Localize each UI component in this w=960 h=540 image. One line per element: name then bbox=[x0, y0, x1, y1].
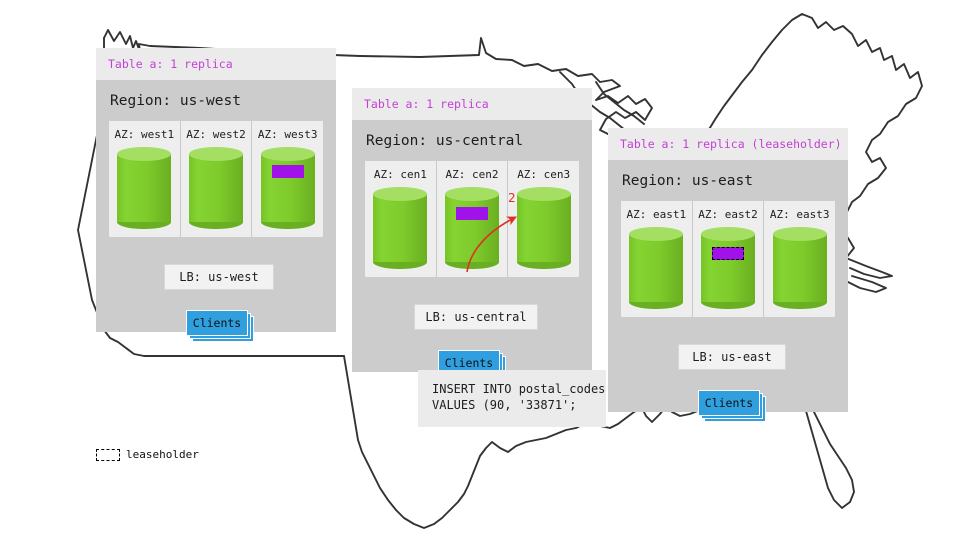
cylinder-top bbox=[517, 187, 571, 201]
az-cell-west1[interactable]: AZ: west1 bbox=[109, 121, 181, 237]
replica-box-east2-leaseholder[interactable] bbox=[712, 247, 744, 260]
az-cell-east3[interactable]: AZ: east3 bbox=[764, 201, 835, 317]
cylinder-body bbox=[629, 234, 683, 302]
cylinder-top bbox=[373, 187, 427, 201]
load-balancer-us-central[interactable]: LB: us-central bbox=[414, 304, 538, 330]
cylinder-shape bbox=[373, 187, 427, 269]
region-panel-us-central: Table a: 1 replica Region: us-central AZ… bbox=[352, 88, 592, 372]
clients-stack[interactable]: Clients bbox=[186, 310, 248, 336]
db-node-east3[interactable] bbox=[773, 227, 827, 309]
clients-group-us-east[interactable]: Clients bbox=[698, 390, 760, 416]
replica-box-cen2[interactable] bbox=[456, 207, 488, 220]
az-label-west3: AZ: west3 bbox=[252, 128, 323, 141]
region-title-us-central: Region: us-central bbox=[352, 120, 592, 161]
db-node-east2[interactable] bbox=[701, 227, 755, 309]
sql-statement-box: INSERT INTO postal_codes VALUES (90, '33… bbox=[418, 370, 606, 427]
az-row-us-east: AZ: east1 AZ: east2 bbox=[621, 201, 835, 317]
cylinder-top bbox=[261, 147, 315, 161]
legend: leaseholder bbox=[96, 448, 199, 461]
db-node-cen2[interactable] bbox=[445, 187, 499, 269]
az-label-cen2: AZ: cen2 bbox=[437, 168, 508, 181]
cylinder-top bbox=[773, 227, 827, 241]
arrow-label-2: 2 bbox=[508, 191, 516, 205]
load-balancer-us-west[interactable]: LB: us-west bbox=[164, 264, 274, 290]
region-panel-us-east: Table a: 1 replica (leaseholder) Region:… bbox=[608, 128, 848, 412]
az-label-east1: AZ: east1 bbox=[621, 208, 692, 221]
replica-box-west3[interactable] bbox=[272, 165, 304, 178]
cylinder-shape bbox=[517, 187, 571, 269]
db-node-west2[interactable] bbox=[189, 147, 243, 229]
lb-label-us-west: LB: us-west bbox=[179, 270, 258, 284]
clients-stack[interactable]: Clients bbox=[698, 390, 760, 416]
db-node-cen3[interactable] bbox=[517, 187, 571, 269]
az-label-east3: AZ: east3 bbox=[764, 208, 835, 221]
db-node-east1[interactable] bbox=[629, 227, 683, 309]
az-cell-east2[interactable]: AZ: east2 bbox=[693, 201, 765, 317]
region-title-us-east: Region: us-east bbox=[608, 160, 848, 201]
cylinder-body bbox=[773, 234, 827, 302]
lb-label-us-central: LB: us-central bbox=[425, 310, 526, 324]
table-replica-header-us-west: Table a: 1 replica bbox=[96, 48, 336, 80]
clients-label-us-east: Clients bbox=[698, 390, 760, 416]
table-replica-header-us-east: Table a: 1 replica (leaseholder) bbox=[608, 128, 848, 160]
az-cell-west2[interactable]: AZ: west2 bbox=[181, 121, 253, 237]
cylinder-shape bbox=[445, 187, 499, 269]
diagram-canvas: Table a: 1 replica Region: us-west AZ: w… bbox=[0, 0, 960, 540]
cylinder-shape bbox=[261, 147, 315, 229]
table-replica-header-us-central: Table a: 1 replica bbox=[352, 88, 592, 120]
cylinder-body bbox=[517, 194, 571, 262]
load-balancer-us-east[interactable]: LB: us-east bbox=[678, 344, 786, 370]
db-node-cen1[interactable] bbox=[373, 187, 427, 269]
cylinder-shape bbox=[629, 227, 683, 309]
cylinder-body bbox=[445, 194, 499, 262]
cylinder-shape bbox=[117, 147, 171, 229]
legend-label: leaseholder bbox=[126, 448, 199, 461]
region-body-us-east: Region: us-east AZ: east1 AZ: east2 bbox=[608, 160, 848, 412]
region-panel-us-west: Table a: 1 replica Region: us-west AZ: w… bbox=[96, 48, 336, 332]
az-label-west2: AZ: west2 bbox=[181, 128, 252, 141]
cylinder-body bbox=[117, 154, 171, 222]
db-node-west3[interactable] bbox=[261, 147, 315, 229]
cylinder-shape bbox=[773, 227, 827, 309]
cylinder-top bbox=[445, 187, 499, 201]
cylinder-top bbox=[189, 147, 243, 161]
cylinder-top bbox=[701, 227, 755, 241]
db-node-west1[interactable] bbox=[117, 147, 171, 229]
lb-label-us-east: LB: us-east bbox=[692, 350, 771, 364]
cylinder-body bbox=[701, 234, 755, 302]
region-body-us-central: Region: us-central AZ: cen1 AZ: cen2 bbox=[352, 120, 592, 372]
cylinder-shape bbox=[189, 147, 243, 229]
az-label-cen1: AZ: cen1 bbox=[365, 168, 436, 181]
az-cell-cen3[interactable]: AZ: cen3 bbox=[508, 161, 579, 277]
cylinder-top bbox=[117, 147, 171, 161]
az-row-us-central: AZ: cen1 AZ: cen2 bbox=[365, 161, 579, 277]
az-cell-cen1[interactable]: AZ: cen1 bbox=[365, 161, 437, 277]
leaseholder-swatch-icon bbox=[96, 449, 120, 461]
az-cell-cen2[interactable]: AZ: cen2 bbox=[437, 161, 509, 277]
az-row-us-west: AZ: west1 AZ: west2 bbox=[109, 121, 323, 237]
cylinder-shape bbox=[701, 227, 755, 309]
az-label-west1: AZ: west1 bbox=[109, 128, 180, 141]
clients-label-us-west: Clients bbox=[186, 310, 248, 336]
cylinder-body bbox=[373, 194, 427, 262]
region-title-us-west: Region: us-west bbox=[96, 80, 336, 121]
az-label-cen3: AZ: cen3 bbox=[508, 168, 579, 181]
cylinder-body bbox=[189, 154, 243, 222]
az-label-east2: AZ: east2 bbox=[693, 208, 764, 221]
az-cell-west3[interactable]: AZ: west3 bbox=[252, 121, 323, 237]
cylinder-top bbox=[629, 227, 683, 241]
clients-group-us-west[interactable]: Clients bbox=[186, 310, 248, 336]
region-body-us-west: Region: us-west AZ: west1 AZ: west2 bbox=[96, 80, 336, 332]
az-cell-east1[interactable]: AZ: east1 bbox=[621, 201, 693, 317]
